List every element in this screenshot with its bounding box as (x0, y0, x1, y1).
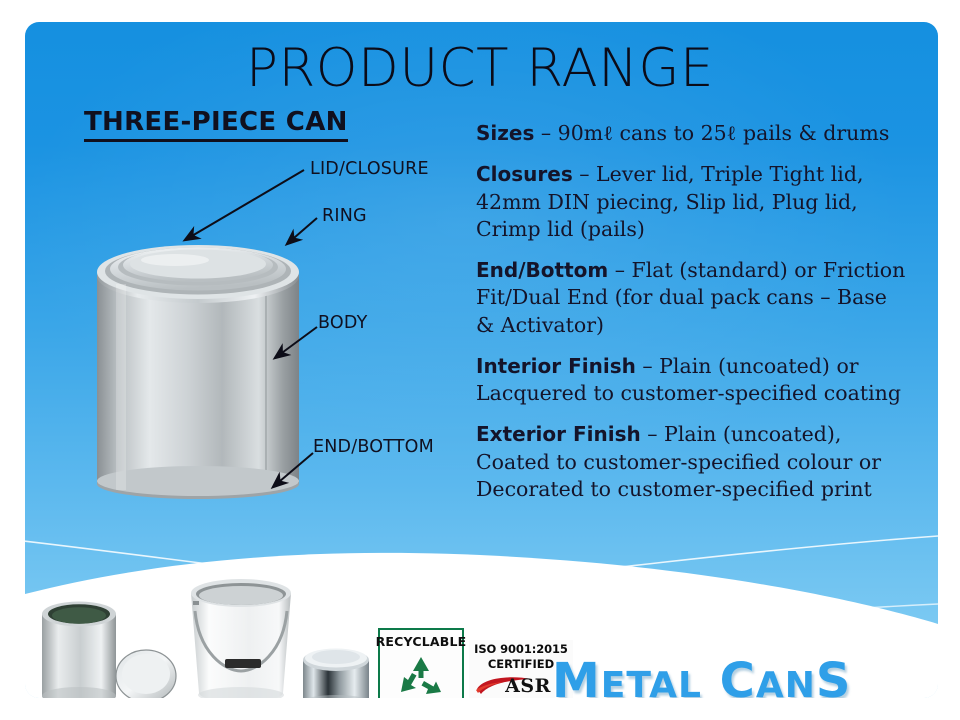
callout-label-lid: LID/CLOSURE (310, 159, 429, 179)
recyclable-metal-badge: RECYCLABLE METAL (378, 628, 464, 698)
spec-term: End/Bottom (476, 258, 608, 282)
recycling-symbol-icon (395, 654, 447, 699)
spec-term: Exterior Finish (476, 422, 641, 446)
spec-item: Sizes – 90mℓ cans to 25ℓ pails & drums (476, 120, 906, 147)
specification-list: Sizes – 90mℓ cans to 25ℓ pails & drums C… (476, 120, 906, 517)
spec-dash: – (573, 162, 596, 186)
spec-dash: – (641, 422, 664, 446)
page-title: PRODUCT RANGE (0, 42, 960, 95)
spec-term: Interior Finish (476, 354, 636, 378)
spec-dash: – (636, 354, 659, 378)
spec-item: End/Bottom – Flat (standard) or Friction… (476, 257, 906, 339)
callout-label-ring: RING (322, 206, 367, 226)
spec-detail: 90mℓ cans to 25ℓ pails & drums (558, 121, 890, 145)
section-title: THREE-PIECE CAN (84, 107, 348, 142)
wordmark-m: M (552, 653, 601, 698)
callout-label-body: BODY (318, 313, 367, 333)
slide: RECYCLABLE METAL ISO 9001:2015 CERTIFIED… (0, 0, 960, 720)
spec-dash: – (608, 258, 631, 282)
spec-item: Closures – Lever lid, Triple Tight lid, … (476, 161, 906, 243)
spec-term: Closures (476, 162, 573, 186)
spec-term: Sizes (476, 121, 534, 145)
recyclable-top-label: RECYCLABLE (376, 634, 467, 649)
spec-item: Exterior Finish – Plain (uncoated), Coat… (476, 421, 906, 503)
photo-small-tin (293, 640, 379, 698)
spec-item: Interior Finish – Plain (uncoated) or La… (476, 353, 906, 408)
wordmark-c: C (720, 653, 756, 698)
metal-cans-wordmark: METAL CANS (552, 653, 851, 698)
callout-label-end-bottom: END/BOTTOM (313, 437, 434, 457)
wordmark-an: AN (756, 665, 816, 698)
wordmark-s: S (816, 653, 852, 698)
spec-dash: – (534, 121, 557, 145)
three-piece-can-illustration (83, 240, 313, 520)
wordmark-etal: ETAL (601, 665, 702, 698)
